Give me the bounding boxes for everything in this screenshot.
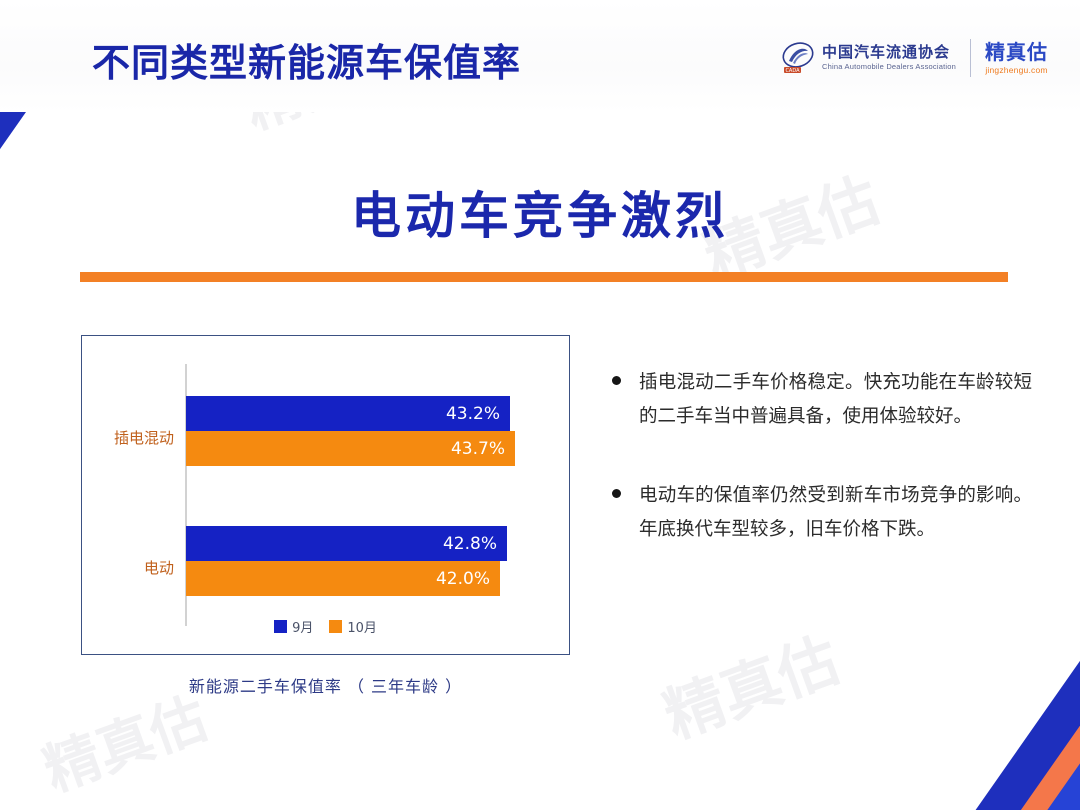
bullet-list: 插电混动二手车价格稳定。快充功能在车龄较短的二手车当中普遍具备，使用体验较好。 … bbox=[612, 366, 1032, 592]
chart-category-label: 电动 bbox=[144, 557, 174, 578]
legend-label: 10月 bbox=[347, 617, 377, 636]
legend-swatch-icon bbox=[329, 620, 342, 633]
chart-bar-ev-sep: 42.8% bbox=[186, 526, 507, 561]
slide-root: 精真估 精真估 精真估 精真估 不同类型新能源车保值率 CADA bbox=[0, 0, 1080, 810]
list-item: 电动车的保值率仍然受到新车市场竞争的影响。年底换代车型较多，旧车价格下跌。 bbox=[612, 479, 1032, 548]
svg-text:CADA: CADA bbox=[785, 68, 800, 74]
jingzhengu-name-cn: 精真估 bbox=[985, 42, 1048, 63]
jingzhengu-logo: 精真估 jingzhengu.com bbox=[985, 42, 1048, 75]
page-title: 电动车竞争激烈 bbox=[0, 176, 1080, 248]
chart-bar-pluginhybrid-sep: 43.2% bbox=[186, 396, 510, 431]
brand-lockup: CADA 中国汽车流通协会 China Automobile Dealers A… bbox=[781, 34, 1048, 82]
chart-category-label: 插电混动 bbox=[114, 427, 174, 448]
legend-label: 9月 bbox=[292, 617, 313, 636]
chart-panel: 插电混动 43.2% 43.7% 电动 42.8% 42.0% 9月 bbox=[81, 335, 570, 655]
chart-bar-value: 42.0% bbox=[436, 569, 500, 589]
cada-logo: CADA 中国汽车流通协会 China Automobile Dealers A… bbox=[781, 41, 956, 75]
bullet-dot-icon bbox=[612, 376, 621, 385]
chart-caption: 新能源二手车保值率 （ 三年车龄 ） bbox=[81, 673, 570, 697]
chart-plot-area: 插电混动 43.2% 43.7% 电动 42.8% 42.0% 9月 bbox=[82, 336, 569, 654]
cada-emblem-icon: CADA bbox=[781, 41, 815, 75]
cada-text-block: 中国汽车流通协会 China Automobile Dealers Associ… bbox=[822, 45, 956, 71]
watermark: 精真估 bbox=[651, 612, 850, 755]
title-divider bbox=[80, 272, 1008, 282]
chart-bar-ev-oct: 42.0% bbox=[186, 561, 500, 596]
jingzhengu-url: jingzhengu.com bbox=[985, 66, 1048, 75]
brand-divider bbox=[970, 39, 971, 77]
cada-name-cn: 中国汽车流通协会 bbox=[822, 45, 956, 61]
bullet-text: 插电混动二手车价格稳定。快充功能在车龄较短的二手车当中普遍具备，使用体验较好。 bbox=[639, 366, 1032, 435]
chart-bar-value: 42.8% bbox=[443, 534, 507, 554]
chart-legend: 9月 10月 bbox=[82, 617, 569, 636]
list-item: 插电混动二手车价格稳定。快充功能在车龄较短的二手车当中普遍具备，使用体验较好。 bbox=[612, 366, 1032, 435]
legend-swatch-icon bbox=[274, 620, 287, 633]
header-title: 不同类型新能源车保值率 bbox=[92, 32, 521, 87]
legend-item-sep: 9月 bbox=[274, 617, 313, 636]
chart-bar-pluginhybrid-oct: 43.7% bbox=[186, 431, 515, 466]
chart-bar-value: 43.2% bbox=[446, 404, 510, 424]
legend-item-oct: 10月 bbox=[329, 617, 377, 636]
chart-bar-value: 43.7% bbox=[451, 439, 515, 459]
bullet-dot-icon bbox=[612, 489, 621, 498]
cada-name-en: China Automobile Dealers Association bbox=[822, 63, 956, 71]
bullet-text: 电动车的保值率仍然受到新车市场竞争的影响。年底换代车型较多，旧车价格下跌。 bbox=[639, 479, 1032, 548]
